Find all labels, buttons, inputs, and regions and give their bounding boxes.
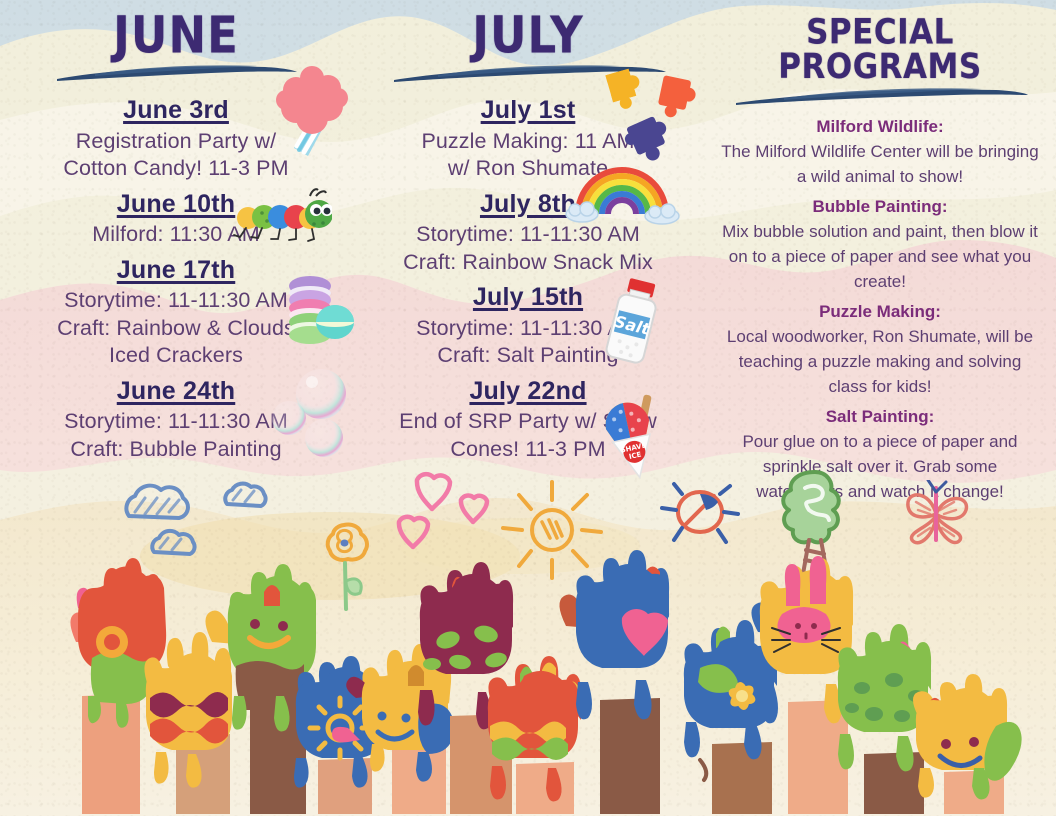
ladybug-doodle (658, 472, 740, 550)
butterfly-doodle (896, 480, 978, 552)
brush-underline-special (730, 86, 1030, 108)
salt-shaker-sticker: Salt (604, 276, 662, 374)
column-title-june: JUNE (0, 0, 352, 60)
special-program-heading: Salt Painting: (718, 406, 1042, 428)
entry-line: Craft: Rainbow Snack Mix (360, 249, 696, 277)
raised-painted-hands (0, 546, 1056, 816)
special-program-heading: Milford Wildlife: (718, 116, 1042, 138)
hand-print (913, 674, 1022, 814)
special-program-heading: Bubble Painting: (718, 196, 1042, 218)
special-program: Salt Painting: Pour glue on to a piece o… (718, 406, 1042, 505)
macarons-sticker (280, 270, 356, 346)
special-program-body: Mix bubble solution and paint, then blow… (718, 220, 1042, 295)
content-columns: JUNE June 3rd Registration Party w/ Cott… (0, 0, 1056, 470)
special-program: Bubble Painting: Mix bubble solution and… (718, 196, 1042, 295)
special-program-body: Local woodworker, Ron Shumate, will be t… (718, 325, 1042, 400)
column-special-programs: SPECIAL PROGRAMS Milford Wildlife: The M… (704, 0, 1056, 470)
special-program: Puzzle Making: Local woodworker, Ron Shu… (718, 301, 1042, 400)
brush-underline-june (51, 63, 301, 85)
rainbow-sticker (562, 148, 682, 228)
column-title-special-programs: SPECIAL PROGRAMS (704, 0, 1056, 85)
special-program: Milford Wildlife: The Milford Wildlife C… (718, 116, 1042, 190)
soap-bubbles-sticker (266, 366, 364, 462)
caterpillar-sticker (226, 188, 332, 250)
flyer-canvas: JUNE June 3rd Registration Party w/ Cott… (0, 0, 1056, 816)
hand-print (488, 656, 581, 814)
cotton-candy-sticker (266, 62, 352, 170)
snow-cone-sticker: SHAVE ICE (592, 390, 672, 482)
special-program-body: The Milford Wildlife Center will be brin… (718, 140, 1042, 190)
heart-doodle (395, 464, 505, 550)
special-program-heading: Puzzle Making: (718, 301, 1042, 323)
special-program-body: Pour glue on to a piece of paper and spr… (718, 430, 1042, 505)
special-programs-list: Milford Wildlife: The Milford Wildlife C… (704, 108, 1056, 505)
column-title-july: JULY (352, 0, 704, 60)
